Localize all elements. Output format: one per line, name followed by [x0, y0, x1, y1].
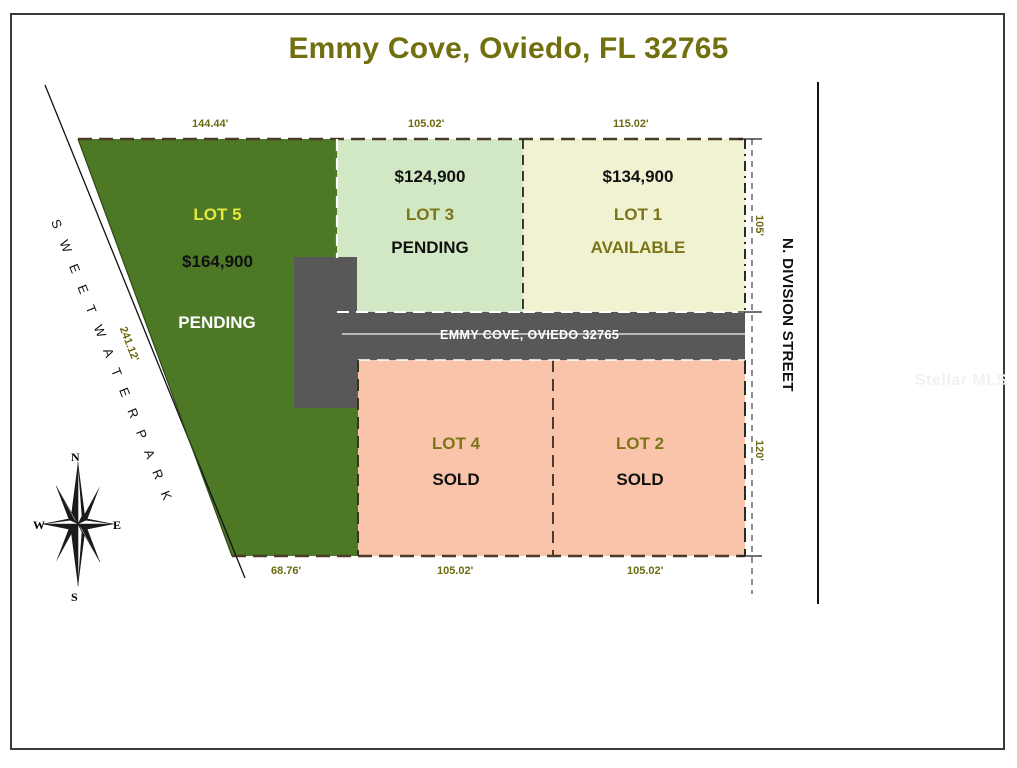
dim-east-upper: 105' — [753, 215, 765, 236]
stellar-mls-watermark: Stellar MLS — [915, 372, 1008, 390]
lot-2-status: SOLD — [580, 470, 700, 490]
dim-east-lower: 120' — [753, 440, 765, 461]
dim-top-right: 115.02' — [613, 118, 649, 130]
compass-north-label: N — [71, 450, 80, 465]
compass-south-label: S — [71, 590, 78, 605]
lot-4-status: SOLD — [396, 470, 516, 490]
compass-west-label: W — [33, 518, 45, 533]
lot-4-parcel[interactable] — [358, 360, 553, 556]
lot-5-price: $164,900 — [160, 252, 275, 272]
lot-5-name: LOT 5 — [160, 205, 275, 225]
lot-3-name: LOT 3 — [360, 205, 500, 225]
lot-1-parcel[interactable] — [523, 139, 745, 312]
lot-1-price: $134,900 — [564, 167, 712, 187]
dim-top-mid: 105.02' — [408, 118, 444, 130]
dim-bottom-left: 68.76' — [271, 565, 301, 577]
lot-1-status: AVAILABLE — [564, 238, 712, 258]
dim-top-left: 144.44' — [192, 118, 228, 130]
lot-3-price: $124,900 — [360, 167, 500, 187]
compass-east-label: E — [113, 518, 121, 533]
page-title: Emmy Cove, Oviedo, FL 32765 — [0, 32, 1017, 66]
lot-3-parcel[interactable] — [337, 139, 523, 312]
lot-3-status: PENDING — [360, 238, 500, 258]
dim-bottom-mid: 105.02' — [437, 565, 473, 577]
lot-1-name: LOT 1 — [564, 205, 712, 225]
lot-2-name: LOT 2 — [580, 434, 700, 454]
lot-5-status: PENDING — [152, 313, 282, 333]
dim-bottom-right: 105.02' — [627, 565, 663, 577]
lot-4-name: LOT 4 — [396, 434, 516, 454]
lot-2-parcel[interactable] — [553, 360, 745, 556]
emmy-cove-road-label: EMMY COVE, OVIEDO 32765 — [440, 328, 619, 342]
n-division-street-label: N. DIVISION STREET — [779, 238, 796, 392]
compass-rose-icon — [42, 462, 114, 586]
plat-map-drawing — [0, 0, 1017, 768]
